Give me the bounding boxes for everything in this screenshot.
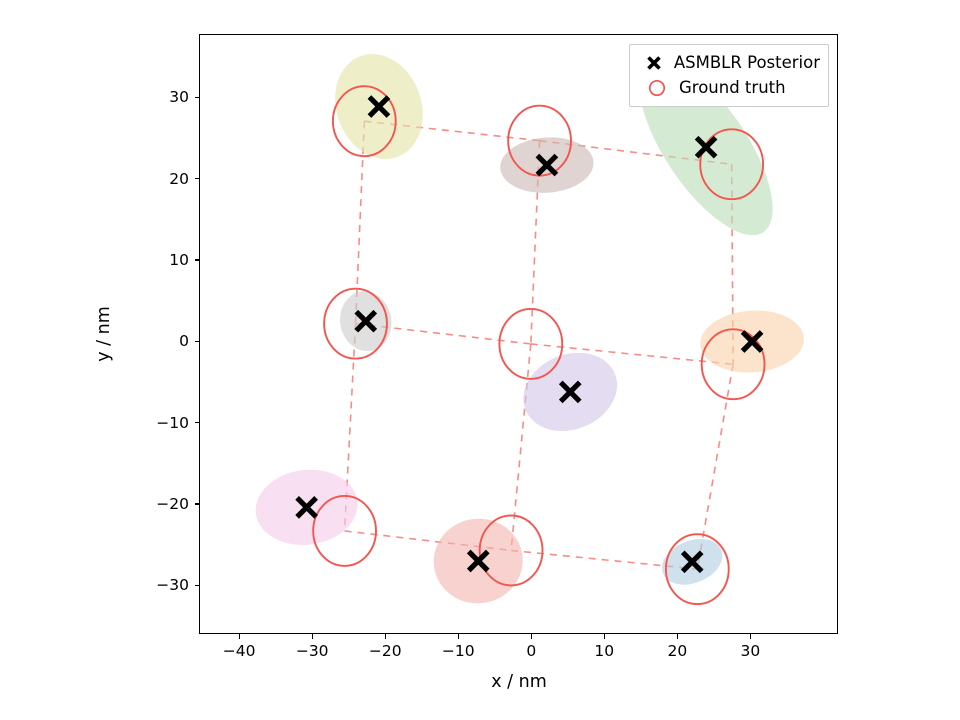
y-tickmark [195,178,200,179]
x-tickmark [750,634,751,639]
x-tickmark [458,634,459,639]
y-tickmark [195,259,200,260]
plot-svg [200,35,838,634]
x-tick-label: 20 [667,642,687,660]
y-tick-label: 30 [0,88,189,106]
posterior-ellipses-group [251,39,806,609]
lattice-line [511,344,531,551]
legend-label-ground-truth: Ground truth [679,78,786,97]
y-tickmark [195,585,200,586]
legend-label-posterior: ASMBLR Posterior [674,53,820,72]
x-tickmark [385,634,386,639]
x-tick-label: 10 [594,642,614,660]
x-tick-label: 0 [526,642,536,660]
y-tickmark [195,341,200,342]
y-tick-label: 10 [0,251,189,269]
x-tick-label: −10 [442,642,475,660]
y-tick-label: −20 [0,495,189,513]
x-axis-label: x / nm [491,672,547,692]
y-tickmark [195,422,200,423]
lattice-line [697,364,733,569]
x-tick-label: −30 [296,642,329,660]
y-tickmark [195,97,200,98]
x-tickmark [312,634,313,639]
x-tickmark [604,634,605,639]
x-tickmark [239,634,240,639]
y-tick-label: −30 [0,576,189,594]
x-marker-icon [638,52,671,74]
legend-entry-posterior: ASMBLR Posterior [638,50,820,75]
figure-canvas: −40−30−20−100102030 −30−20−100102030 x /… [0,0,960,720]
x-tickmark [531,634,532,639]
y-tick-label: −10 [0,414,189,432]
x-tick-label: 30 [740,642,760,660]
circle-marker-icon [638,77,676,99]
x-tickmark [677,634,678,639]
y-axis-label: y / nm [94,306,114,362]
legend-entry-ground-truth: Ground truth [638,75,820,100]
x-tick-label: −40 [223,642,256,660]
x-tick-label: −20 [369,642,402,660]
legend-box: ASMBLR Posterior Ground truth [629,44,829,107]
y-tickmark [195,503,200,504]
plot-area [199,34,838,634]
y-tick-label: 20 [0,170,189,188]
